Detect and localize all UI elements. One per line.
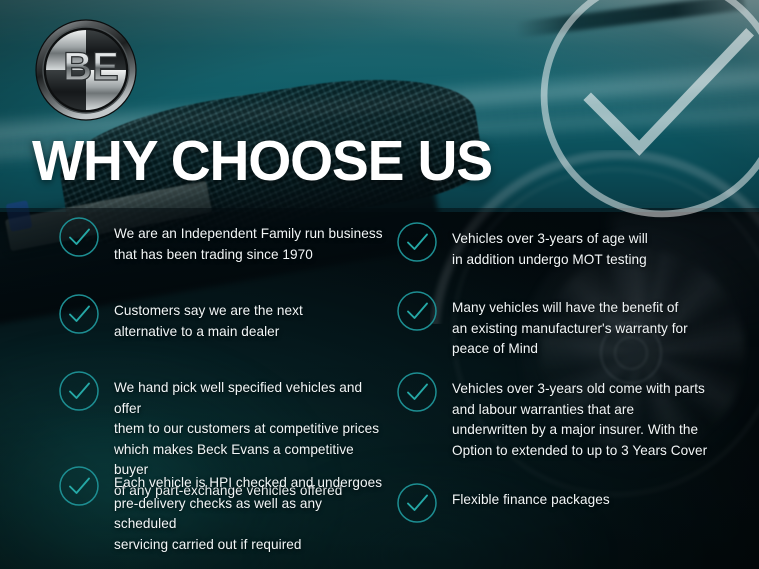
check-circle-icon [58,293,100,335]
benefit-item: Vehicles over 3-years of age will in add… [396,229,648,270]
benefit-item: Flexible finance packages [396,490,610,524]
check-circle-icon [396,221,438,263]
why-choose-us-slide: BE WHY CHOOSE US We are an Independent F… [0,0,759,569]
benefit-item: Many vehicles will have the benefit of a… [396,298,688,360]
check-circle-icon [58,216,100,258]
benefit-text: Vehicles over 3-years old come with part… [452,379,707,461]
check-circle-icon [396,290,438,332]
benefit-text: Many vehicles will have the benefit of a… [452,298,688,360]
check-circle-icon [58,465,100,507]
benefit-text: Flexible finance packages [452,490,610,511]
benefit-text: Customers say we are the next alternativ… [114,301,303,342]
benefits-columns: We are an Independent Family run busines… [0,0,759,569]
check-circle-icon [396,482,438,524]
benefit-text: We are an Independent Family run busines… [114,224,383,265]
benefit-text: Each vehicle is HPI checked and undergoe… [114,473,388,555]
benefit-text: Vehicles over 3-years of age will in add… [452,229,648,270]
benefit-item: Vehicles over 3-years old come with part… [396,379,707,461]
check-circle-icon [396,371,438,413]
benefit-item: Customers say we are the next alternativ… [58,301,303,342]
benefit-item: We are an Independent Family run busines… [58,224,383,265]
benefit-item: Each vehicle is HPI checked and undergoe… [58,473,388,555]
check-circle-icon [58,370,100,412]
